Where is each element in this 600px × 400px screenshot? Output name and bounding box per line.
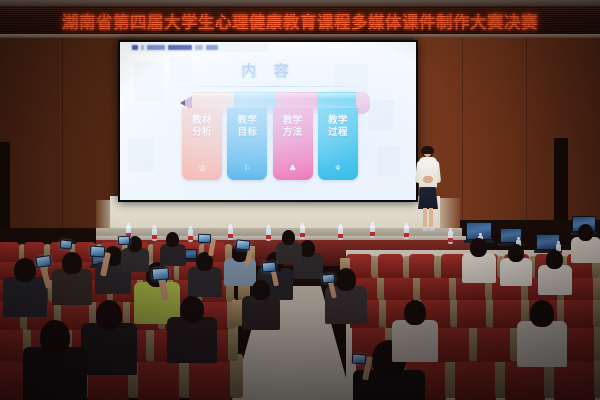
audience-phone[interactable]: [35, 255, 51, 268]
audience-phone[interactable]: [118, 236, 130, 246]
audience-phone[interactable]: [236, 239, 251, 250]
audience-phone[interactable]: [322, 273, 336, 283]
audience-phone[interactable]: [152, 267, 170, 280]
auditorium-photo: 湖南省第四届大学生心理健康教育课程多媒体课件制作大赛决赛 湖南省第四届大学生心理…: [0, 0, 600, 400]
phone-group: [0, 0, 600, 400]
audience-phone[interactable]: [352, 353, 367, 364]
audience-phone[interactable]: [59, 239, 72, 249]
audience-phone[interactable]: [90, 245, 106, 257]
audience-phone[interactable]: [262, 262, 277, 273]
audience-phone[interactable]: [198, 234, 211, 244]
